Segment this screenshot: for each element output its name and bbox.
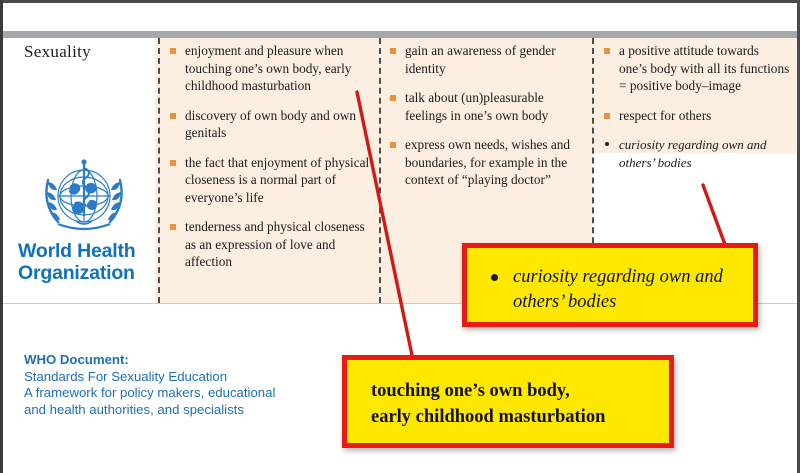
list-item: enjoyment and pleasure when touching one…: [170, 42, 370, 95]
bullet-square-icon: [390, 95, 396, 101]
bullet-square-icon: [170, 48, 176, 54]
row-label-sexuality: Sexuality: [24, 42, 91, 62]
header-gray-bar: [3, 31, 797, 38]
caption-line-2: A framework for policy makers, education…: [24, 385, 354, 402]
callout-touching-line-2: early childhood masturbation: [371, 404, 669, 430]
list-item-text: enjoyment and pleasure when touching one…: [185, 43, 351, 93]
who-logo-text: World Health Organization: [18, 240, 148, 284]
bullet-square-icon: [390, 48, 396, 54]
callout-curiosity-text: curiosity regarding own and others’ bodi…: [513, 267, 723, 312]
column-3-list: a positive attitude towards one’s body w…: [604, 42, 790, 171]
list-item-text: respect for others: [619, 108, 711, 123]
list-item: gain an awareness of gender identity: [390, 42, 585, 77]
column-1-list: enjoyment and pleasure when touching one…: [170, 42, 370, 271]
list-item-text: discovery of own body and own genitals: [185, 108, 356, 141]
list-item-text: tenderness and physical closeness as an …: [185, 219, 365, 269]
list-item-text: express own needs, wishes and boundaries…: [405, 137, 570, 187]
column-1: enjoyment and pleasure when touching one…: [170, 42, 370, 283]
list-item-text: gain an awareness of gender identity: [405, 43, 556, 76]
list-item: a positive attitude towards one’s body w…: [604, 42, 790, 95]
list-item-text: a positive attitude towards one’s body w…: [619, 43, 789, 93]
frame-top-edge: [0, 0, 800, 3]
callout-curiosity-text-wrap: curiosity regarding own and others’ bodi…: [489, 265, 748, 315]
who-emblem-icon: [32, 158, 136, 240]
list-item-text: curiosity regarding own and others’ bodi…: [619, 137, 766, 170]
list-item: respect for others: [604, 107, 790, 125]
bullet-dot-icon: [491, 274, 498, 281]
callout-touching-text-wrap: touching one’s own body, early childhood…: [371, 378, 669, 430]
bullet-square-icon: [390, 142, 396, 148]
bullet-square-icon: [604, 113, 610, 119]
list-item-highlighted: curiosity regarding own and others’ bodi…: [604, 136, 790, 171]
who-document-caption: WHO Document: Standards For Sexuality Ed…: [24, 352, 354, 418]
column-2: gain an awareness of gender identity tal…: [390, 42, 585, 201]
column-3: a positive attitude towards one’s body w…: [604, 42, 790, 183]
column-2-list: gain an awareness of gender identity tal…: [390, 42, 585, 189]
callout-touching-line-1: touching one’s own body,: [371, 378, 669, 404]
caption-line-3: and health authorities, and specialists: [24, 402, 354, 419]
bullet-dot-icon: [605, 142, 609, 146]
caption-line-1: Standards For Sexuality Education: [24, 369, 354, 386]
list-item: discovery of own body and own genitals: [170, 107, 370, 142]
list-item: tenderness and physical closeness as an …: [170, 218, 370, 271]
who-logo: World Health Organization: [18, 158, 148, 298]
list-item-text: the fact that enjoyment of physical clos…: [185, 155, 369, 205]
bullet-square-icon: [170, 113, 176, 119]
who-logo-line2: Organization: [18, 262, 148, 284]
column-divider-1: [158, 38, 160, 303]
bullet-square-icon: [170, 160, 176, 166]
list-item-text: talk about (un)pleasurable feelings in o…: [405, 90, 548, 123]
who-logo-line1: World Health: [18, 240, 148, 262]
list-item: talk about (un)pleasurable feelings in o…: [390, 89, 585, 124]
list-item: the fact that enjoyment of physical clos…: [170, 154, 370, 207]
callout-curiosity: curiosity regarding own and others’ bodi…: [462, 243, 758, 327]
bullet-square-icon: [604, 48, 610, 54]
caption-heading: WHO Document:: [24, 352, 354, 369]
column-divider-2: [379, 38, 381, 303]
bullet-square-icon: [170, 224, 176, 230]
callout-touching: touching one’s own body, early childhood…: [342, 355, 674, 448]
slide-canvas: Sexuality: [0, 0, 800, 473]
list-item: express own needs, wishes and boundaries…: [390, 136, 585, 189]
